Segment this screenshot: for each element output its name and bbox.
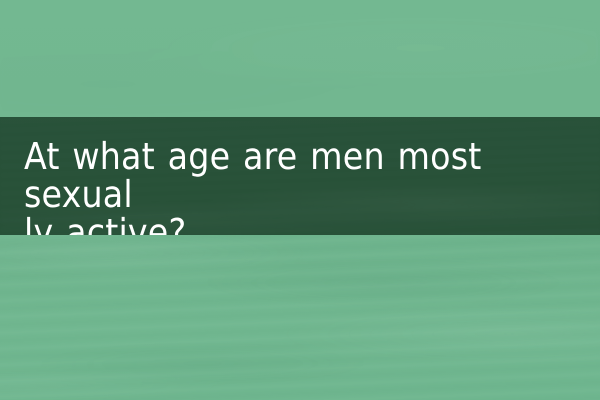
background-texture-upper: [0, 0, 600, 120]
caption-title-text: At what age are men most sexual ly activ…: [24, 138, 590, 235]
caption-banner: At what age are men most sexual ly activ…: [0, 117, 600, 235]
background-texture-lower-wisps: [0, 220, 600, 400]
screenshot-canvas: At what age are men most sexual ly activ…: [0, 0, 600, 400]
